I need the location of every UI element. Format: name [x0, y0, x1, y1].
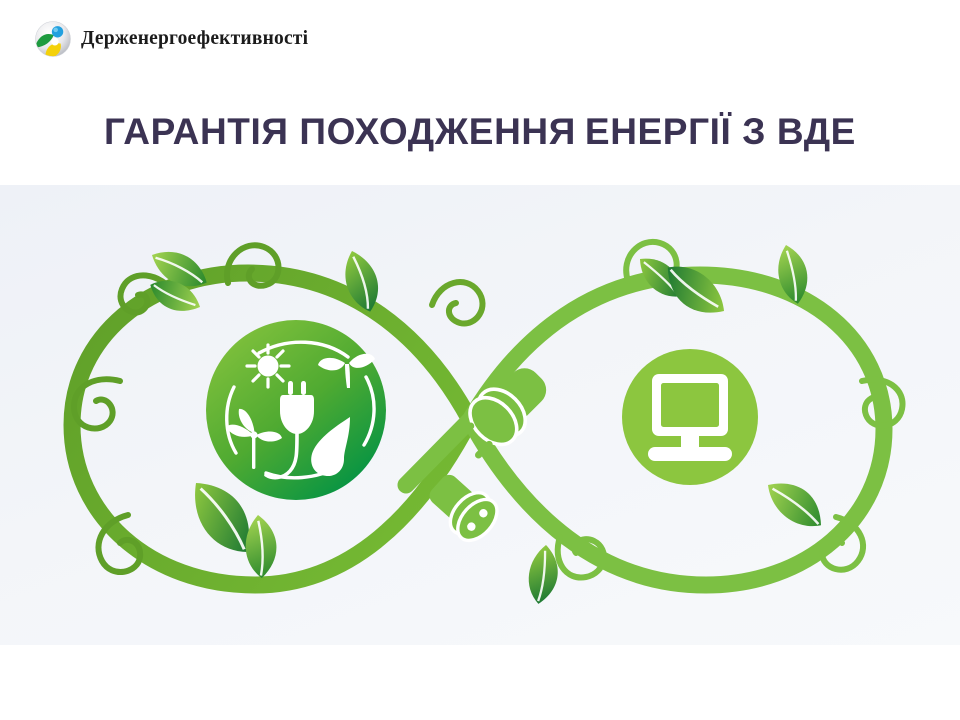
leaf-icon: [193, 478, 251, 557]
page-title-part2: ЕНЕРГІЇ З ВДЕ: [585, 111, 856, 152]
page-title-part1: ГАРАНТІЯ ПОХОДЖЕННЯ: [104, 111, 576, 152]
leaf-icon: [767, 472, 824, 538]
computer-monitor-icon: [648, 374, 732, 461]
renewable-sources-circle: [206, 320, 386, 500]
leaf-icon: [513, 544, 572, 605]
spiral-tendril-icon: [432, 282, 483, 323]
sun-icon: [247, 345, 289, 387]
slide-root: Держенергоефективності ГАРАНТІЯ ПОХОДЖЕН…: [0, 0, 960, 720]
consumer-computer-circle: [622, 349, 758, 485]
page-title: ГАРАНТІЯ ПОХОДЖЕННЯЕНЕРГІЇ З ВДЕ: [0, 112, 960, 153]
organization-name: Держенергоефективності: [81, 29, 308, 49]
renewable-energy-infinity-illustration: [0, 185, 960, 645]
leaf-icon: [335, 251, 388, 313]
globe-sphere-logo-icon: [34, 20, 72, 58]
brand-logo: Держенергоефективності: [34, 20, 308, 58]
